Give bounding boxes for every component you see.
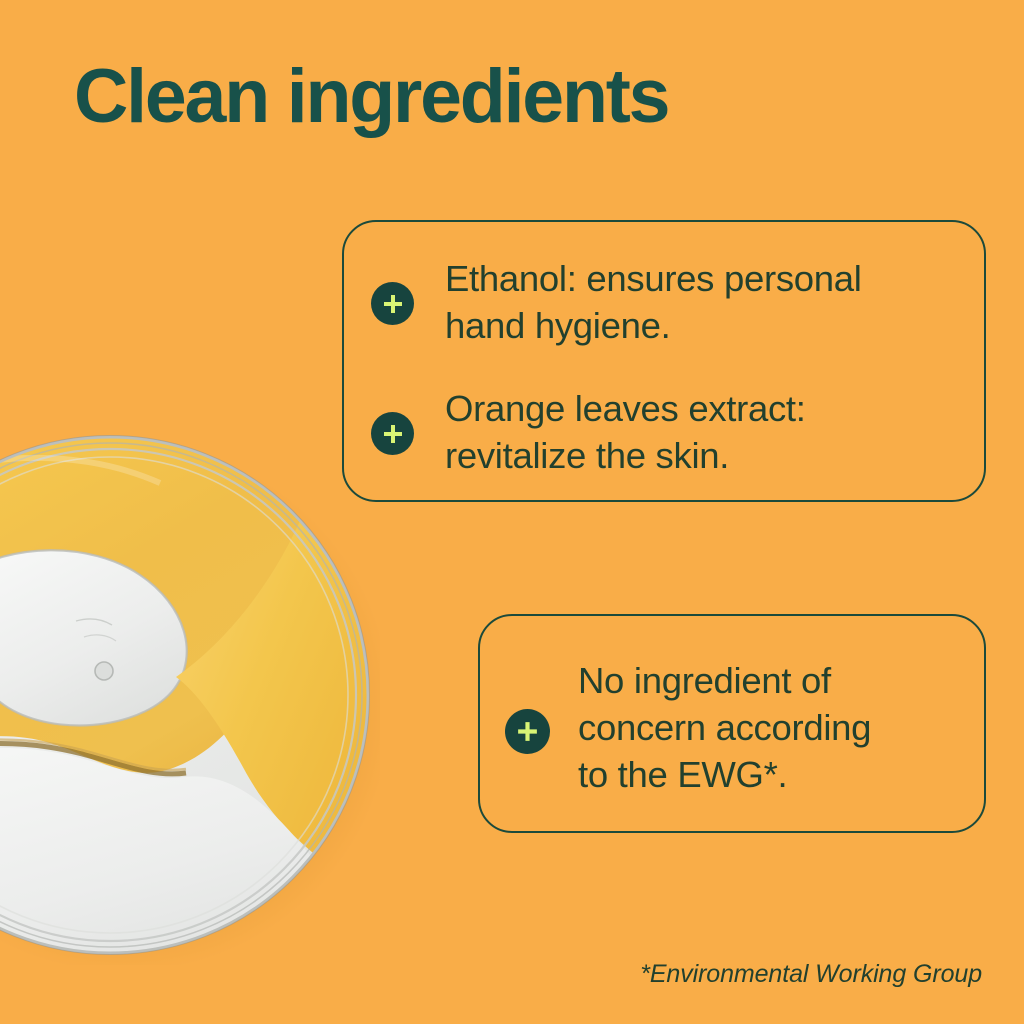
plus-icon (371, 282, 414, 325)
footnote: *Environmental Working Group (640, 959, 982, 989)
product-photo (0, 425, 380, 965)
plus-glyph (381, 292, 405, 316)
plus-icon (505, 709, 550, 754)
petri-dish-illustration (0, 425, 380, 965)
page-title: Clean ingredients (74, 54, 668, 140)
plus-icon (371, 412, 414, 455)
bullet-text-orange-leaves: Orange leaves extract: revitalize the sk… (445, 385, 965, 479)
bullet-text-no-ingredient-of-concern: No ingredient of concern according to th… (578, 657, 978, 798)
plus-glyph (381, 422, 405, 446)
bullet-text-ethanol: Ethanol: ensures personal hand hygiene. (445, 255, 965, 349)
poster-canvas: Clean ingredients (0, 0, 1024, 1024)
plus-glyph (515, 719, 540, 744)
